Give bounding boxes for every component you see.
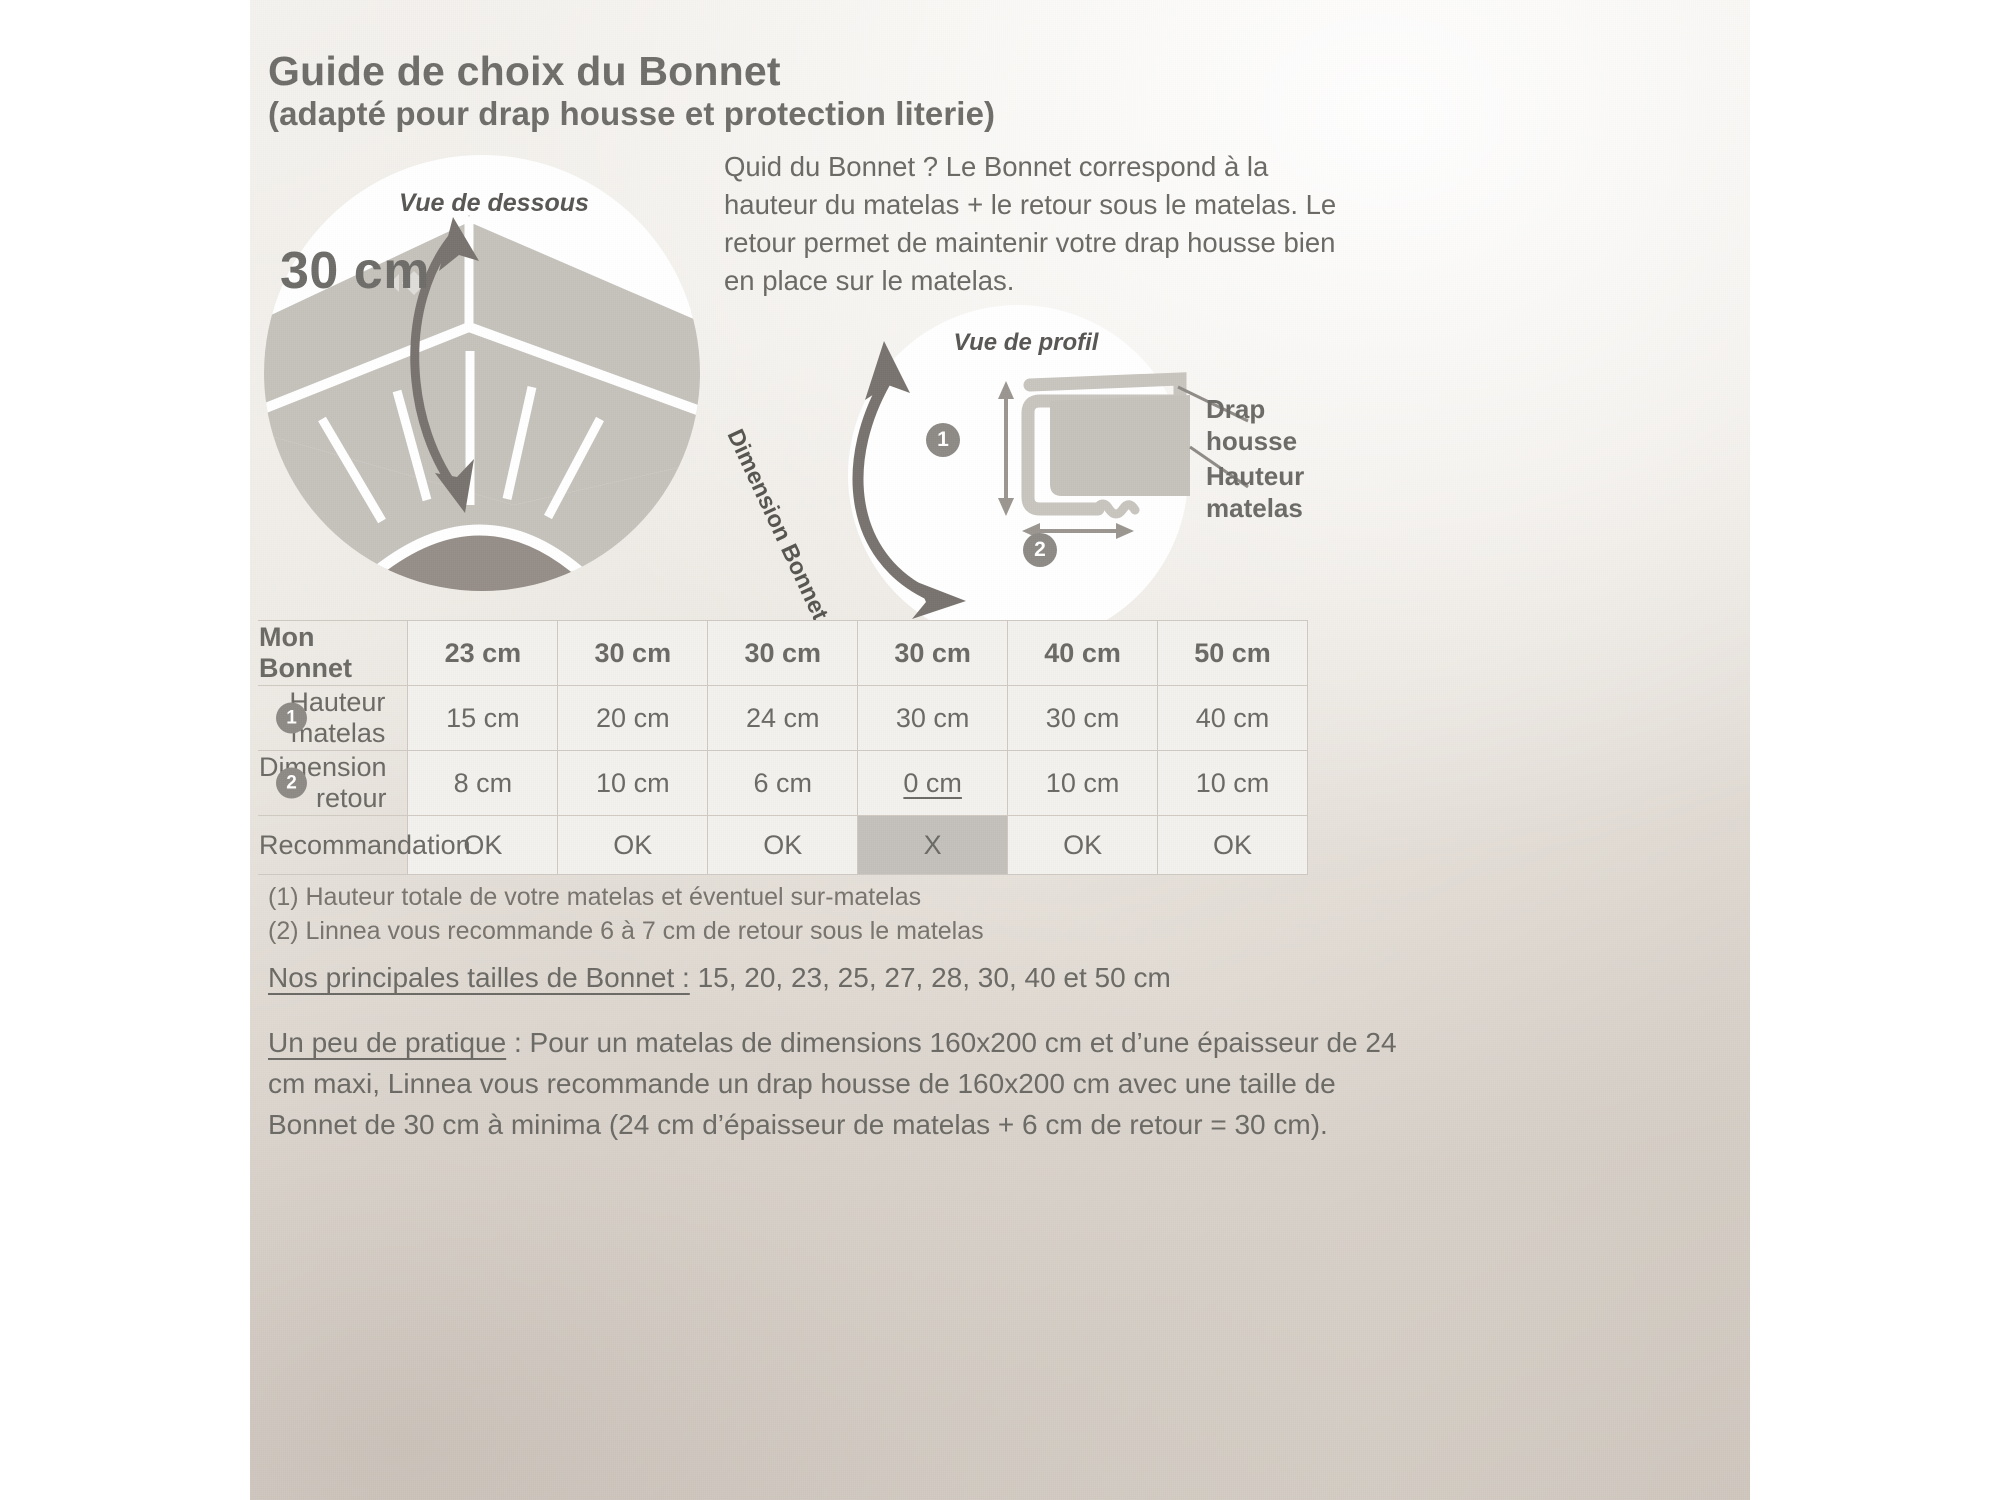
table-cell: 10 cm [558, 751, 708, 816]
profile-view-diagram: Vue de profil Dimension Bonnet 1 2 Drap … [848, 305, 1188, 645]
callout-drap-housse: Drap housse [1206, 393, 1297, 457]
bottom-view-diagram: Vue de dessous 30 cm [264, 155, 700, 591]
table-cell: 40 cm [1158, 686, 1308, 751]
table-cell: 10 cm [1008, 751, 1158, 816]
bottom-view-caption: Vue de dessous [374, 189, 614, 218]
table-cell: OK [1158, 816, 1308, 875]
table-header-row: Mon Bonnet 23 cm 30 cm 30 cm 30 cm 40 cm… [258, 621, 1308, 686]
bottom-view-illustration [264, 155, 700, 591]
table-cell-underlined: 0 cm [858, 751, 1008, 816]
badge-1: 1 [926, 423, 960, 457]
sizes-line-value: 15, 20, 23, 25, 27, 28, 30, 40 et 50 cm [690, 962, 1171, 993]
badge-2: 2 [1023, 533, 1057, 567]
table-header-cell: 30 cm [558, 621, 708, 686]
table-cell: OK [1008, 816, 1158, 875]
sizes-line: Nos principales tailles de Bonnet : 15, … [268, 962, 1468, 994]
table-cell: 8 cm [408, 751, 558, 816]
table-cell: 30 cm [858, 686, 1008, 751]
row-badge-2: 2 [276, 768, 307, 799]
footnote-2: (2) Linnea vous recommande 6 à 7 cm de r… [268, 914, 1368, 948]
practical-label: Un peu de pratique [268, 1027, 506, 1058]
table-cell: 10 cm [1158, 751, 1308, 816]
infographic-page: Guide de choix du Bonnet (adapté pour dr… [0, 0, 2000, 1500]
table-header-cell: 23 cm [408, 621, 558, 686]
table-row: Recommandation OK OK OK X OK OK [258, 816, 1308, 875]
table-cell: 30 cm [1008, 686, 1158, 751]
infographic-canvas: Guide de choix du Bonnet (adapté pour dr… [250, 0, 1750, 1500]
sizes-line-label: Nos principales tailles de Bonnet : [268, 962, 690, 993]
footnote-1: (1) Hauteur totale de votre matelas et é… [268, 880, 1368, 914]
bonnet-measure-label: 30 cm [280, 241, 510, 301]
underlined-value: 0 cm [903, 768, 962, 798]
table-cell: 20 cm [558, 686, 708, 751]
table-header-cell: 30 cm [858, 621, 1008, 686]
practical-paragraph: Un peu de pratique : Pour un matelas de … [268, 1022, 1418, 1145]
dimension-bonnet-arrow [858, 374, 930, 595]
table-row-label-recommandation: Recommandation [258, 816, 408, 875]
table-header-label: Mon Bonnet [258, 621, 408, 686]
row-label-text: Recommandation [259, 830, 471, 861]
bonnet-table: Mon Bonnet 23 cm 30 cm 30 cm 30 cm 40 cm… [258, 620, 1308, 875]
table-row-label-dimension-retour: 2 Dimension retour [258, 751, 408, 816]
page-title: Guide de choix du Bonnet [268, 48, 1268, 95]
table-cell: OK [558, 816, 708, 875]
table-cell-highlighted: X [858, 816, 1008, 875]
row-badge-1: 1 [276, 703, 307, 734]
callout-hauteur-matelas: Hauteur matelas [1206, 460, 1304, 524]
dimension-bonnet-arrow-head-end [912, 582, 966, 619]
mattress-block [1050, 395, 1190, 496]
page-subtitle: (adapté pour drap housse et protection l… [268, 95, 1368, 133]
profile-view-caption: Vue de profil [926, 329, 1126, 357]
table-cell: OK [708, 816, 858, 875]
table-cell: 15 cm [408, 686, 558, 751]
dimension-bonnet-arrow-head-top [865, 341, 910, 400]
table-header-cell: 40 cm [1008, 621, 1158, 686]
table-row: 1 Hauteur matelas 15 cm 20 cm 24 cm 30 c… [258, 686, 1308, 751]
intro-paragraph: Quid du Bonnet ? Le Bonnet correspond à … [724, 148, 1364, 300]
table-row-label-hauteur-matelas: 1 Hauteur matelas [258, 686, 408, 751]
table-cell: 6 cm [708, 751, 858, 816]
table-header-cell: 30 cm [708, 621, 858, 686]
footnotes: (1) Hauteur totale de votre matelas et é… [268, 880, 1368, 948]
table-cell: 24 cm [708, 686, 858, 751]
table-header-cell: 50 cm [1158, 621, 1308, 686]
table-row: 2 Dimension retour 8 cm 10 cm 6 cm 0 cm … [258, 751, 1308, 816]
